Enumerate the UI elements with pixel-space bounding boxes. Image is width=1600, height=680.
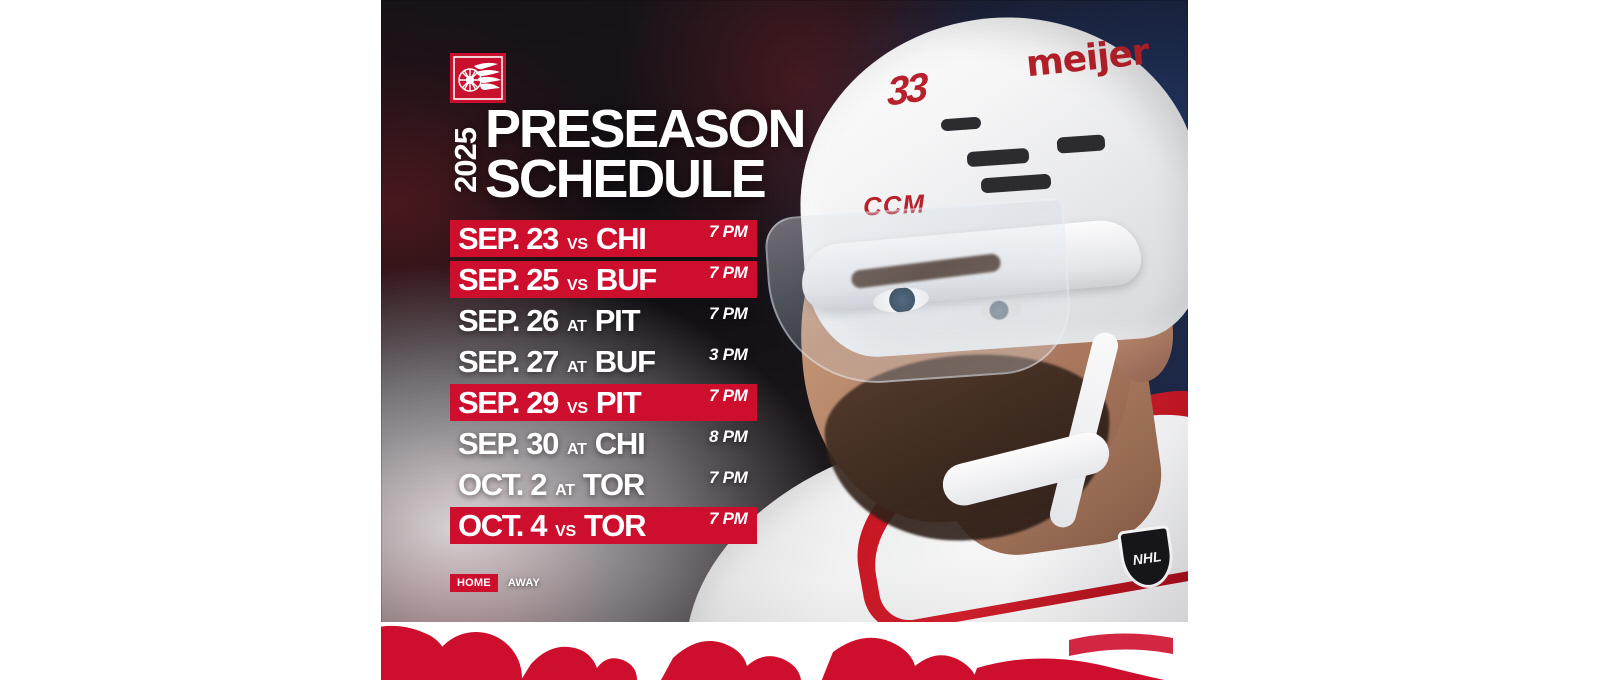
game-time: 3 PM	[709, 345, 747, 365]
schedule-row-content: OCT. 4VSTOR7 PM	[381, 508, 1188, 544]
game-opponent: BUF	[596, 262, 656, 298]
schedule-graphic-panel: 33 meijer CCM NHL	[381, 0, 1188, 680]
game-opponent: PIT	[595, 303, 640, 339]
game-opponent: CHI	[596, 221, 646, 257]
schedule-row-content: SEP. 30ATCHI8 PM	[381, 426, 1188, 462]
schedule-row-content: SEP. 25VSBUF7 PM	[381, 262, 1188, 298]
schedule-row-content: SEP. 27ATBUF3 PM	[381, 344, 1188, 380]
title-line-preseason: PRESEASON	[485, 105, 804, 155]
game-date: SEP. 29	[458, 385, 558, 421]
red-wings-logo-icon	[450, 53, 506, 103]
game-date: SEP. 26	[458, 303, 558, 339]
game-opponent: CHI	[595, 426, 645, 462]
schedule-row[interactable]: SEP. 23VSCHI7 PM	[381, 218, 1188, 259]
game-preposition: AT	[567, 318, 587, 336]
game-date: SEP. 27	[458, 344, 558, 380]
schedule-row[interactable]: OCT. 2ATTOR7 PM	[381, 464, 1188, 505]
legend-away-label: AWAY	[508, 577, 540, 589]
schedule-content: 2025 PRESEASON SCHEDULE SEP. 23VSCHI7 PM…	[381, 0, 1188, 680]
game-date: SEP. 30	[458, 426, 558, 462]
game-time: 7 PM	[709, 304, 747, 324]
title-block: 2025 PRESEASON SCHEDULE	[450, 105, 804, 204]
game-preposition: AT	[567, 359, 587, 377]
schedule-row[interactable]: SEP. 26ATPIT7 PM	[381, 300, 1188, 341]
game-date: OCT. 2	[458, 467, 546, 503]
game-preposition: VS	[567, 236, 588, 254]
schedule-row[interactable]: OCT. 4VSTOR7 PM	[381, 505, 1188, 546]
game-date: SEP. 25	[458, 262, 558, 298]
game-time: 7 PM	[709, 386, 747, 406]
game-time: 7 PM	[709, 263, 747, 283]
poster-canvas: 33 meijer CCM NHL	[0, 0, 1600, 680]
schedule-row[interactable]: SEP. 27ATBUF3 PM	[381, 341, 1188, 382]
game-preposition: AT	[567, 441, 587, 459]
schedule-row[interactable]: SEP. 25VSBUF7 PM	[381, 259, 1188, 300]
game-date: OCT. 4	[458, 508, 546, 544]
game-preposition: VS	[567, 400, 588, 418]
schedule-row-content: SEP. 23VSCHI7 PM	[381, 221, 1188, 257]
game-opponent: PIT	[596, 385, 641, 421]
game-time: 7 PM	[709, 468, 747, 488]
legend-home-badge: HOME	[450, 574, 498, 592]
game-opponent: TOR	[583, 467, 644, 503]
game-opponent: BUF	[595, 344, 655, 380]
schedule-row-content: OCT. 2ATTOR7 PM	[381, 467, 1188, 503]
legend: HOME AWAY	[450, 574, 540, 592]
game-date: SEP. 23	[458, 221, 558, 257]
game-time: 8 PM	[709, 427, 747, 447]
year-label: 2025	[450, 107, 481, 193]
schedule-row-content: SEP. 26ATPIT7 PM	[381, 303, 1188, 339]
schedule-row-content: SEP. 29VSPIT7 PM	[381, 385, 1188, 421]
game-opponent: TOR	[584, 508, 645, 544]
game-time: 7 PM	[709, 509, 747, 529]
game-time: 7 PM	[709, 222, 747, 242]
schedule-row[interactable]: SEP. 29VSPIT7 PM	[381, 382, 1188, 423]
schedule-row[interactable]: SEP. 30ATCHI8 PM	[381, 423, 1188, 464]
game-preposition: AT	[555, 482, 575, 500]
schedule-list: SEP. 23VSCHI7 PMSEP. 25VSBUF7 PMSEP. 26A…	[381, 218, 1188, 546]
game-preposition: VS	[555, 523, 576, 541]
title-line-schedule: SCHEDULE	[485, 155, 804, 205]
game-preposition: VS	[567, 277, 588, 295]
